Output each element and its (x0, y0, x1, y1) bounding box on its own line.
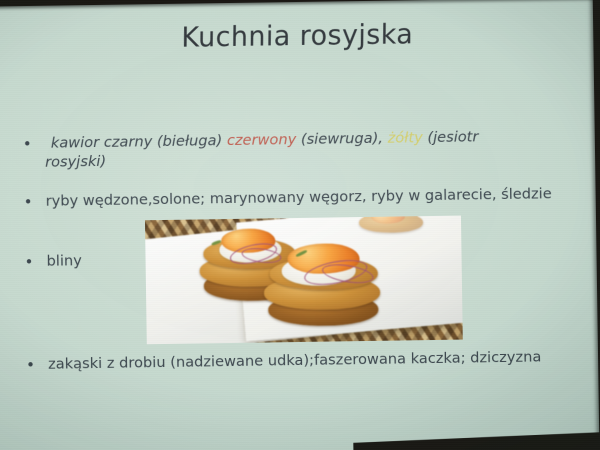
bullet-text-zakaski: zakąski z drobiu (nadziewane udka);fasze… (48, 348, 556, 374)
screen-surface: Kuchnia rosyjska • kawior czarny (bieług… (0, 0, 600, 450)
food-photo-blini-with-roe (145, 216, 463, 345)
run-kawior-2: (siewruga), (296, 130, 388, 148)
bullet-item-zakaski: • zakąski z drobiu (nadziewane udka);fas… (26, 348, 556, 375)
run-kawior-zolty: żółty (387, 129, 422, 147)
bullet-marker: • (26, 356, 48, 376)
bullet-item-kawior: • kawior czarny (bieługa) czerwony (siew… (23, 127, 543, 172)
bullet-marker: • (23, 135, 45, 155)
bullet-marker: • (24, 193, 46, 213)
bullet-marker: • (24, 253, 46, 273)
bullet-text-kawior: kawior czarny (bieługa) czerwony (siewru… (45, 127, 543, 172)
bullet-item-ryby: • ryby wędzone,solone; marynowany węgorz… (24, 185, 564, 212)
slide-photograph: Kuchnia rosyjska • kawior czarny (bieług… (0, 0, 600, 450)
bullet-text-ryby: ryby wędzone,solone; marynowany węgorz, … (46, 185, 564, 211)
projection-screen: Kuchnia rosyjska • kawior czarny (bieług… (0, 0, 600, 450)
presentation-slide: Kuchnia rosyjska • kawior czarny (bieług… (0, 0, 600, 450)
run-kawior-czerwony: czerwony (227, 131, 297, 149)
run-kawior-0: kawior czarny (bieługa) (51, 132, 227, 152)
